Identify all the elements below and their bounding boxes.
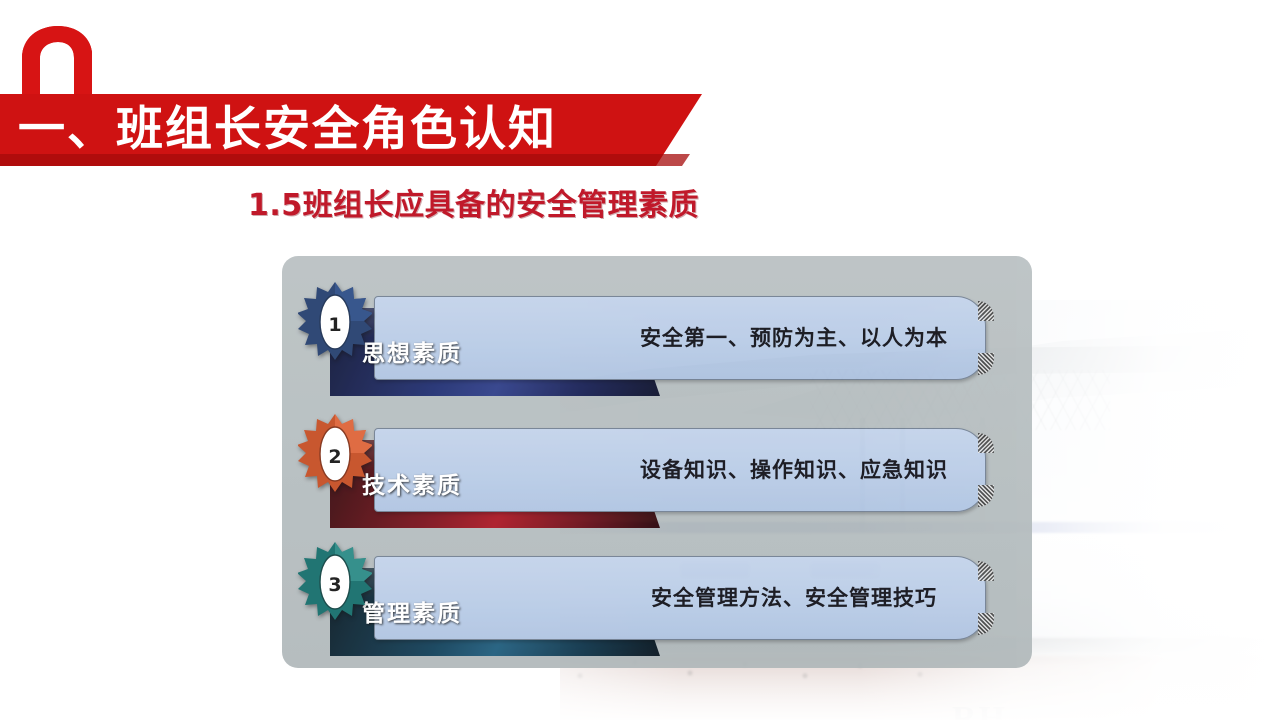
step-badge-number: 3 <box>298 542 372 632</box>
slide-canvas: RH 一、班组长安全角色认知 1.5班组长应具备的安全管理素质 安全第一、预防为… <box>0 0 1280 720</box>
step-badge-number: 2 <box>298 414 372 504</box>
step-badge-1: 1 <box>298 282 372 368</box>
row-label-text: 技术素质 <box>362 466 462 500</box>
step-badge-2: 2 <box>298 414 372 500</box>
list-item[interactable]: 安全管理方法、安全管理技巧 管理素质 3 <box>282 546 1032 656</box>
row-label-text: 思想素质 <box>362 334 462 368</box>
list-item[interactable]: 安全第一、预防为主、以人为本 思想素质 1 <box>282 286 1032 396</box>
photo-logo-text: RH <box>952 700 1007 720</box>
list-item[interactable]: 设备知识、操作知识、应急知识 技术素质 2 <box>282 418 1032 528</box>
page-title: 一、班组长安全角色认知 <box>18 99 678 161</box>
step-badge-number: 1 <box>298 282 372 372</box>
content-panel: 安全第一、预防为主、以人为本 思想素质 1 <box>282 256 1032 668</box>
row-label-text: 管理素质 <box>362 594 462 628</box>
page-subtitle: 1.5班组长应具备的安全管理素质 <box>248 180 699 224</box>
row-content-text: 安全第一、预防为主、以人为本 <box>374 296 984 378</box>
row-content-text: 安全管理方法、安全管理技巧 <box>374 556 984 638</box>
row-content-text: 设备知识、操作知识、应急知识 <box>374 428 984 510</box>
step-badge-3: 3 <box>298 542 372 628</box>
